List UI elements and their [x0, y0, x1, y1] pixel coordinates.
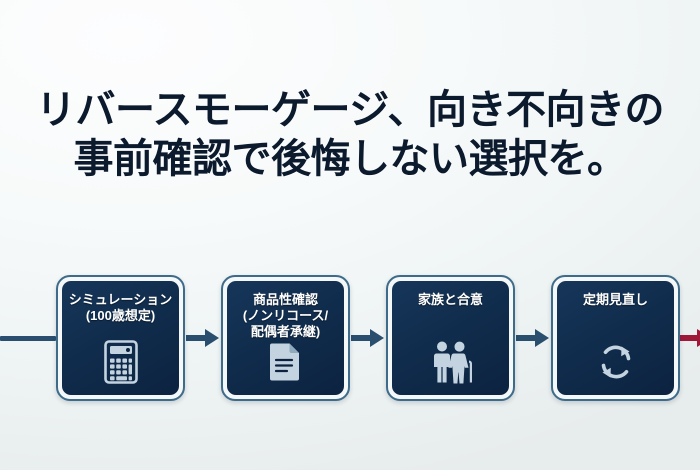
title-line-1: リバースモーゲージ、向き不向きの [0, 88, 700, 133]
flow-entry-line [0, 336, 56, 341]
slide-canvas: リバースモーゲージ、向き不向きの 事前確認で後悔しない選択を。 シミュレーション… [0, 0, 700, 470]
step-family-agreement[interactable]: 家族と合意 [386, 275, 515, 401]
arrow-3 [515, 325, 551, 351]
step-product-check[interactable]: 商品性確認 (ノンリコース/ 配偶者承継) [221, 275, 350, 401]
refresh-cycle-icon [595, 340, 637, 384]
step-simulation-label: シミュレーション (100歳想定) [69, 292, 172, 324]
title-line-2: 事前確認で後悔しない選択を。 [0, 137, 700, 182]
family-icon [428, 340, 474, 384]
step-simulation[interactable]: シミュレーション (100歳想定) [56, 275, 185, 401]
step-periodic-review-label: 定期見直し [583, 292, 648, 308]
step-product-check-label: 商品性確認 (ノンリコース/ 配偶者承継) [243, 292, 328, 340]
process-flow: シミュレーション (100歳想定) [0, 272, 700, 404]
arrow-2 [350, 325, 386, 351]
page-title: リバースモーゲージ、向き不向きの 事前確認で後悔しない選択を。 [0, 88, 700, 182]
document-icon [269, 340, 302, 384]
step-periodic-review[interactable]: 定期見直し [551, 275, 680, 401]
step-family-agreement-label: 家族と合意 [418, 292, 483, 308]
arrow-1 [185, 325, 221, 351]
arrow-final [680, 325, 700, 351]
calculator-icon [104, 340, 138, 384]
